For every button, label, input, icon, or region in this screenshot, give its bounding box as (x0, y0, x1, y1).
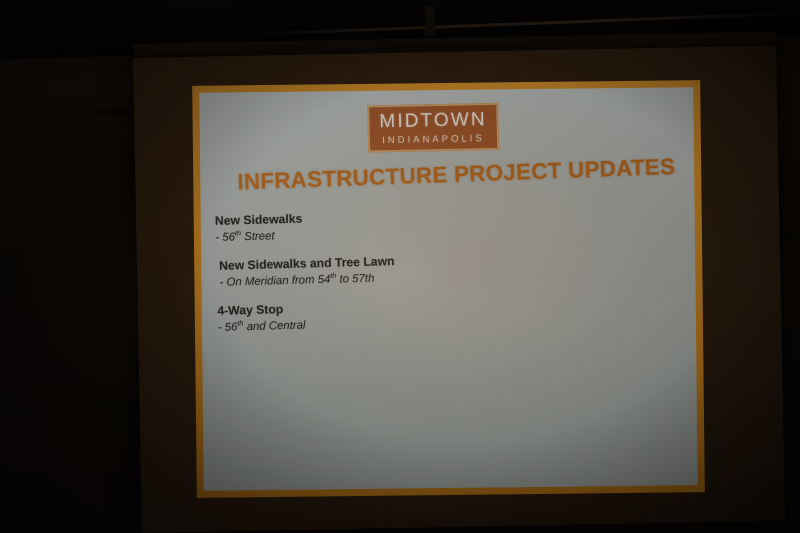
bullet-group: 4-Way Stop - 56th and Central (217, 293, 638, 336)
logo-subtitle: INDIANAPOLIS (382, 134, 485, 146)
bullet-detail-prefix: - 56 (218, 322, 238, 335)
bullet-group: New Sidewalks - 56th Street (215, 203, 636, 246)
slide-surface: MIDTOWN INDIANAPOLIS INFRASTRUCTURE PROJ… (199, 87, 697, 491)
midtown-indianapolis-logo: MIDTOWN INDIANAPOLIS (367, 103, 499, 153)
bullet-detail-suffix: Street (241, 231, 275, 244)
bullet-detail-prefix: - 56 (215, 232, 235, 245)
bullet-detail-prefix: - On Meridian from 54 (219, 274, 330, 289)
projection-screen: MIDTOWN INDIANAPOLIS INFRASTRUCTURE PROJ… (133, 44, 785, 533)
bullet-detail-suffix: to 57th (336, 273, 374, 286)
bullet-group: New Sidewalks and Tree Lawn - On Meridia… (216, 248, 637, 291)
slide-title: INFRASTRUCTURE PROJECT UPDATES (237, 154, 668, 195)
projector-screen-mount (425, 6, 435, 36)
presentation-photo: MIDTOWN INDIANAPOLIS INFRASTRUCTURE PROJ… (0, 0, 800, 533)
slide-page-number: 3 (695, 484, 698, 490)
bullet-detail-suffix: and Central (243, 320, 305, 334)
slide-body: New Sidewalks - 56th Street New Sidewalk… (215, 203, 638, 337)
logo-wordmark: MIDTOWN (379, 110, 487, 131)
slide-border-frame: MIDTOWN INDIANAPOLIS INFRASTRUCTURE PROJ… (192, 80, 705, 498)
